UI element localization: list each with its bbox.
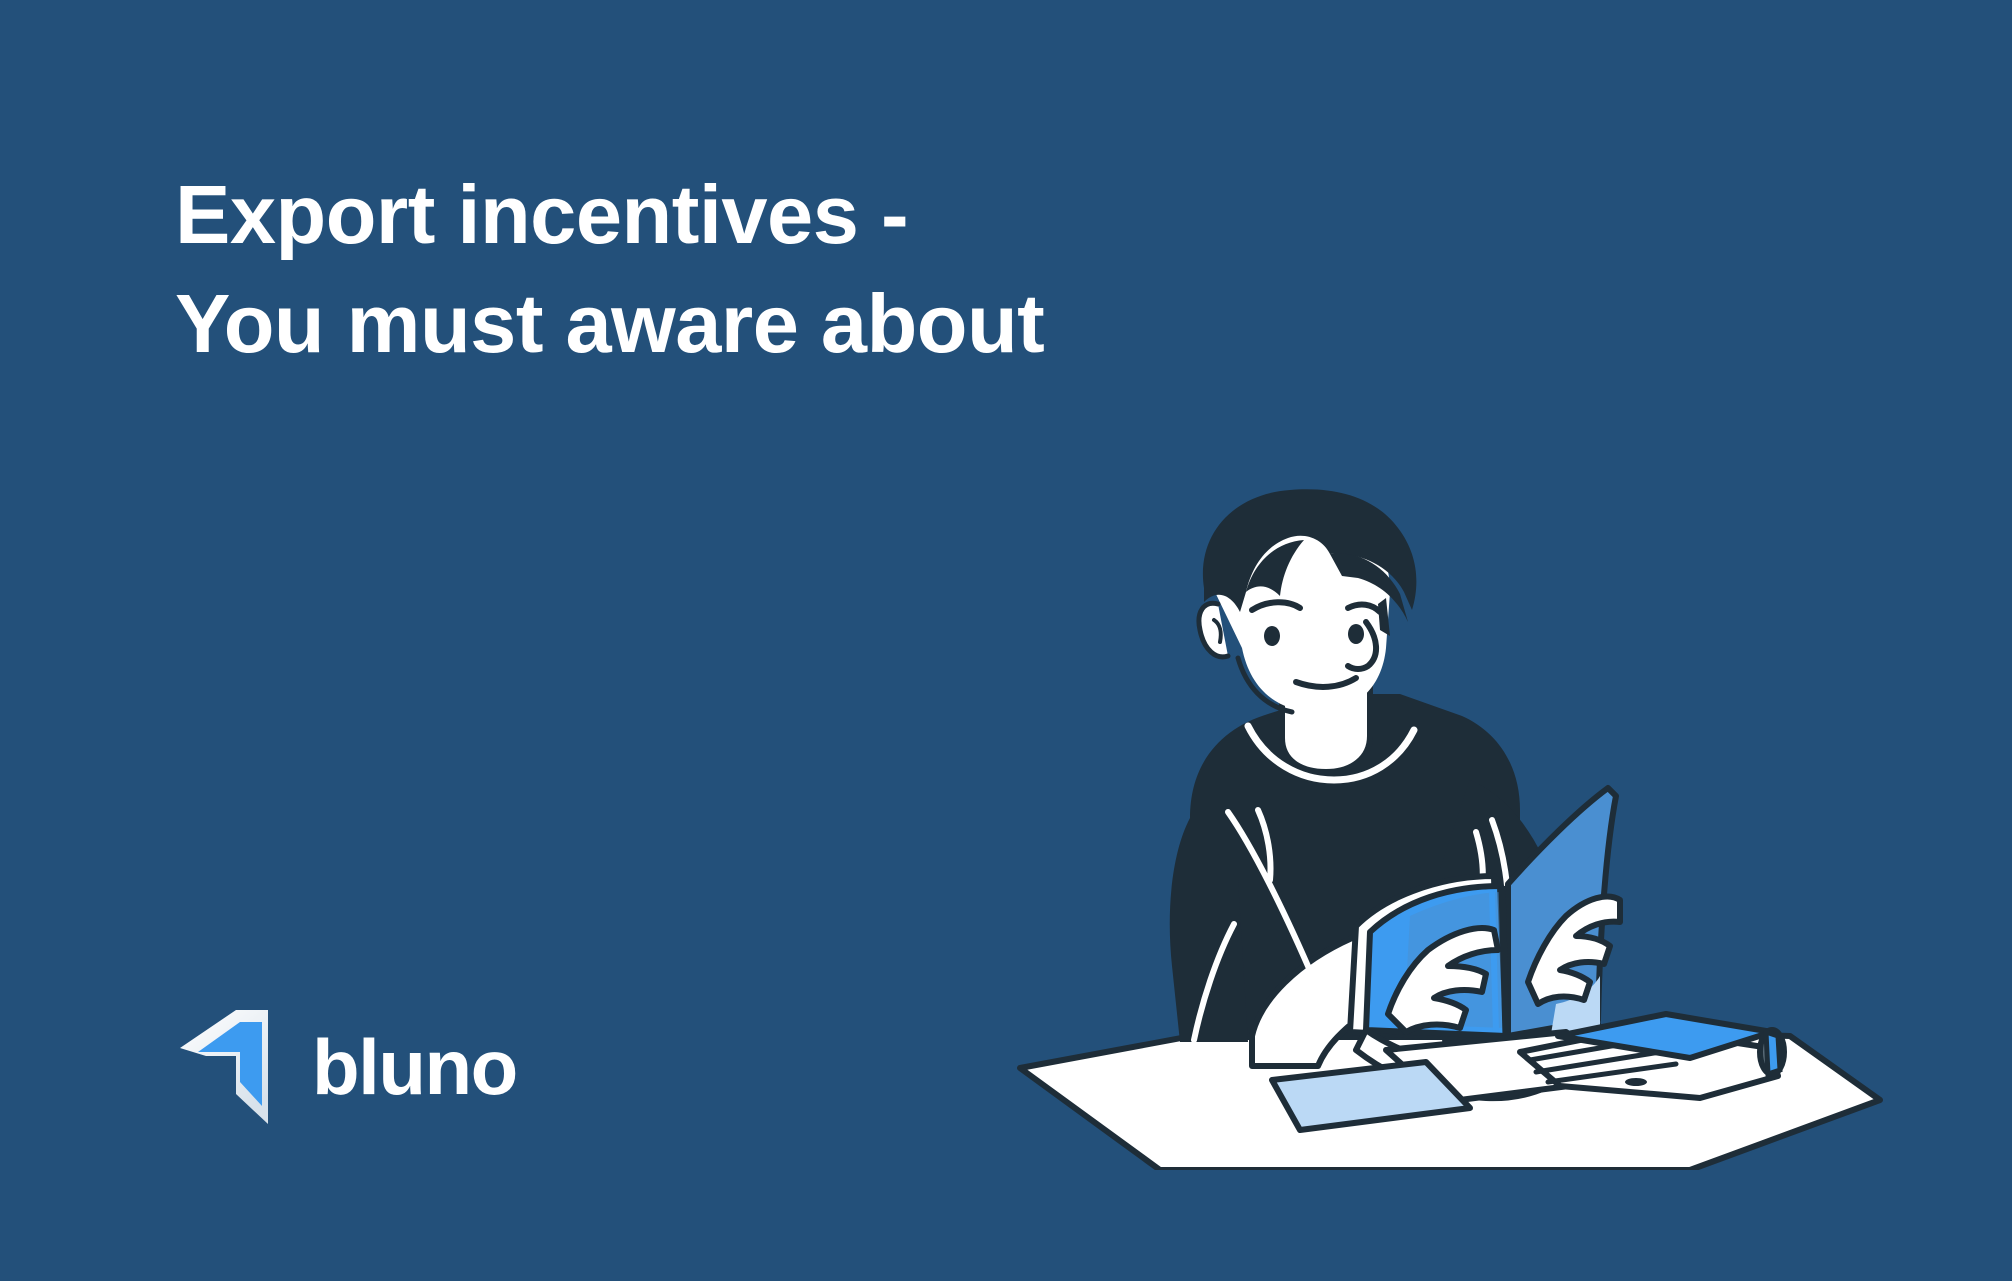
- headline-line-2: You must aware about: [175, 269, 1225, 378]
- banner-canvas: Export incentives - You must aware about…: [0, 0, 2012, 1281]
- bluno-arrow-icon: [178, 1008, 290, 1126]
- bluno-logo[interactable]: bluno: [178, 1008, 517, 1126]
- bluno-wordmark: bluno: [312, 1028, 517, 1106]
- page-title: Export incentives - You must aware about: [175, 160, 1225, 378]
- headline-line-1: Export incentives -: [175, 160, 1225, 269]
- man-reading-book-illustration: [1000, 480, 1900, 1170]
